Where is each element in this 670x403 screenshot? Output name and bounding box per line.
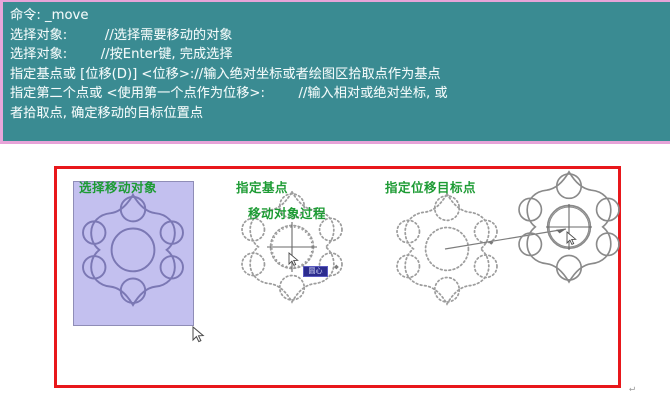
command-line-4: 指定第二个点或 <使用第一个点作为位移>: //输入相对或绝对坐标, 或 — [10, 84, 670, 104]
command-line-5: 者拾取点, 确定移动的目标位置点 — [10, 104, 670, 124]
slide-canvas: 命令: _move 选择对象: //选择需要移动的对象 选择对象: //按Ent… — [0, 0, 670, 403]
panel-2-grip-marker — [334, 265, 339, 270]
caption-specify-target-point: 指定位移目标点 — [385, 177, 476, 196]
base-point-crosshair-icon — [267, 222, 317, 272]
caption-specify-base-point: 指定基点 — [236, 177, 288, 196]
command-line-2: 选择对象: //按Enter键, 完成选择 — [10, 45, 670, 65]
panel-2-pick-cursor-icon — [289, 253, 298, 265]
command-line-3: 指定基点或 [位移(D)] <位移>://输入绝对坐标或者绘图区拾取点作为基点 — [10, 65, 670, 85]
command-line-panel: 命令: _move 选择对象: //选择需要移动的对象 选择对象: //按Ent… — [0, 0, 670, 144]
target-point-crosshair-icon — [546, 204, 592, 250]
object-snap-tooltip: 圆心 — [303, 266, 328, 277]
command-line-0: 命令: _move — [10, 6, 670, 26]
panel-3-pick-cursor-icon — [567, 232, 576, 244]
command-line-1: 选择对象: //选择需要移动的对象 — [10, 26, 670, 46]
object-snap-tooltip-label: 圆心 — [304, 267, 327, 276]
figure-frame: 圆心 — [54, 166, 621, 388]
text-caret-artifact: ↵ — [629, 383, 635, 394]
figure-geometry — [57, 169, 618, 385]
caption-figure-title: 移动对象过程 — [248, 203, 326, 222]
arrow-cursor-icon — [193, 327, 203, 342]
caption-select-object: 选择移动对象 — [79, 177, 157, 196]
panel-1-selected-flange — [83, 195, 183, 305]
